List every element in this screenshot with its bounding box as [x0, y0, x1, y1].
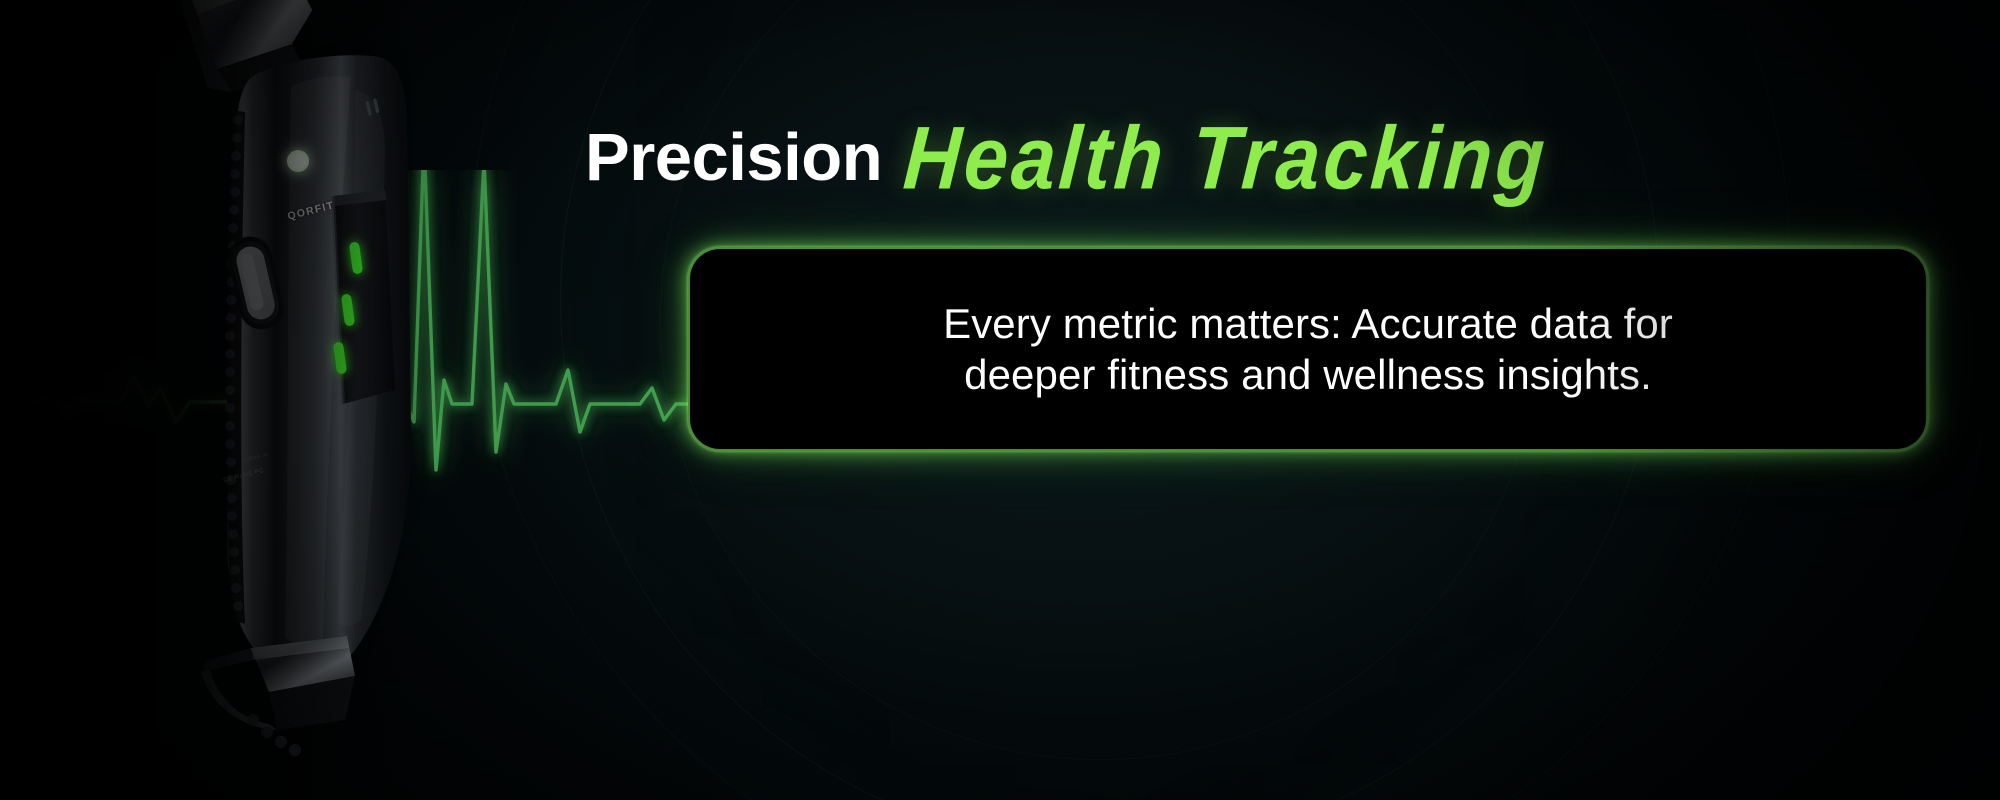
description-line-1: Every metric matters: Accurate data for — [943, 300, 1673, 347]
headline-plain-text: Precision — [585, 124, 882, 191]
headline-accent-text: Health Tracking — [901, 112, 1551, 201]
hero-banner: QORFIT HSX4A-XI CE RoHS FC Precision Hea… — [0, 0, 2000, 800]
description-line-2: deeper fitness and wellness insights. — [943, 349, 1673, 400]
page-title: Precision Health Tracking — [585, 112, 1945, 202]
description-panel: Every metric matters: Accurate data for … — [688, 247, 1928, 451]
description-text: Every metric matters: Accurate data for … — [907, 298, 1709, 400]
left-vignette — [0, 0, 420, 800]
